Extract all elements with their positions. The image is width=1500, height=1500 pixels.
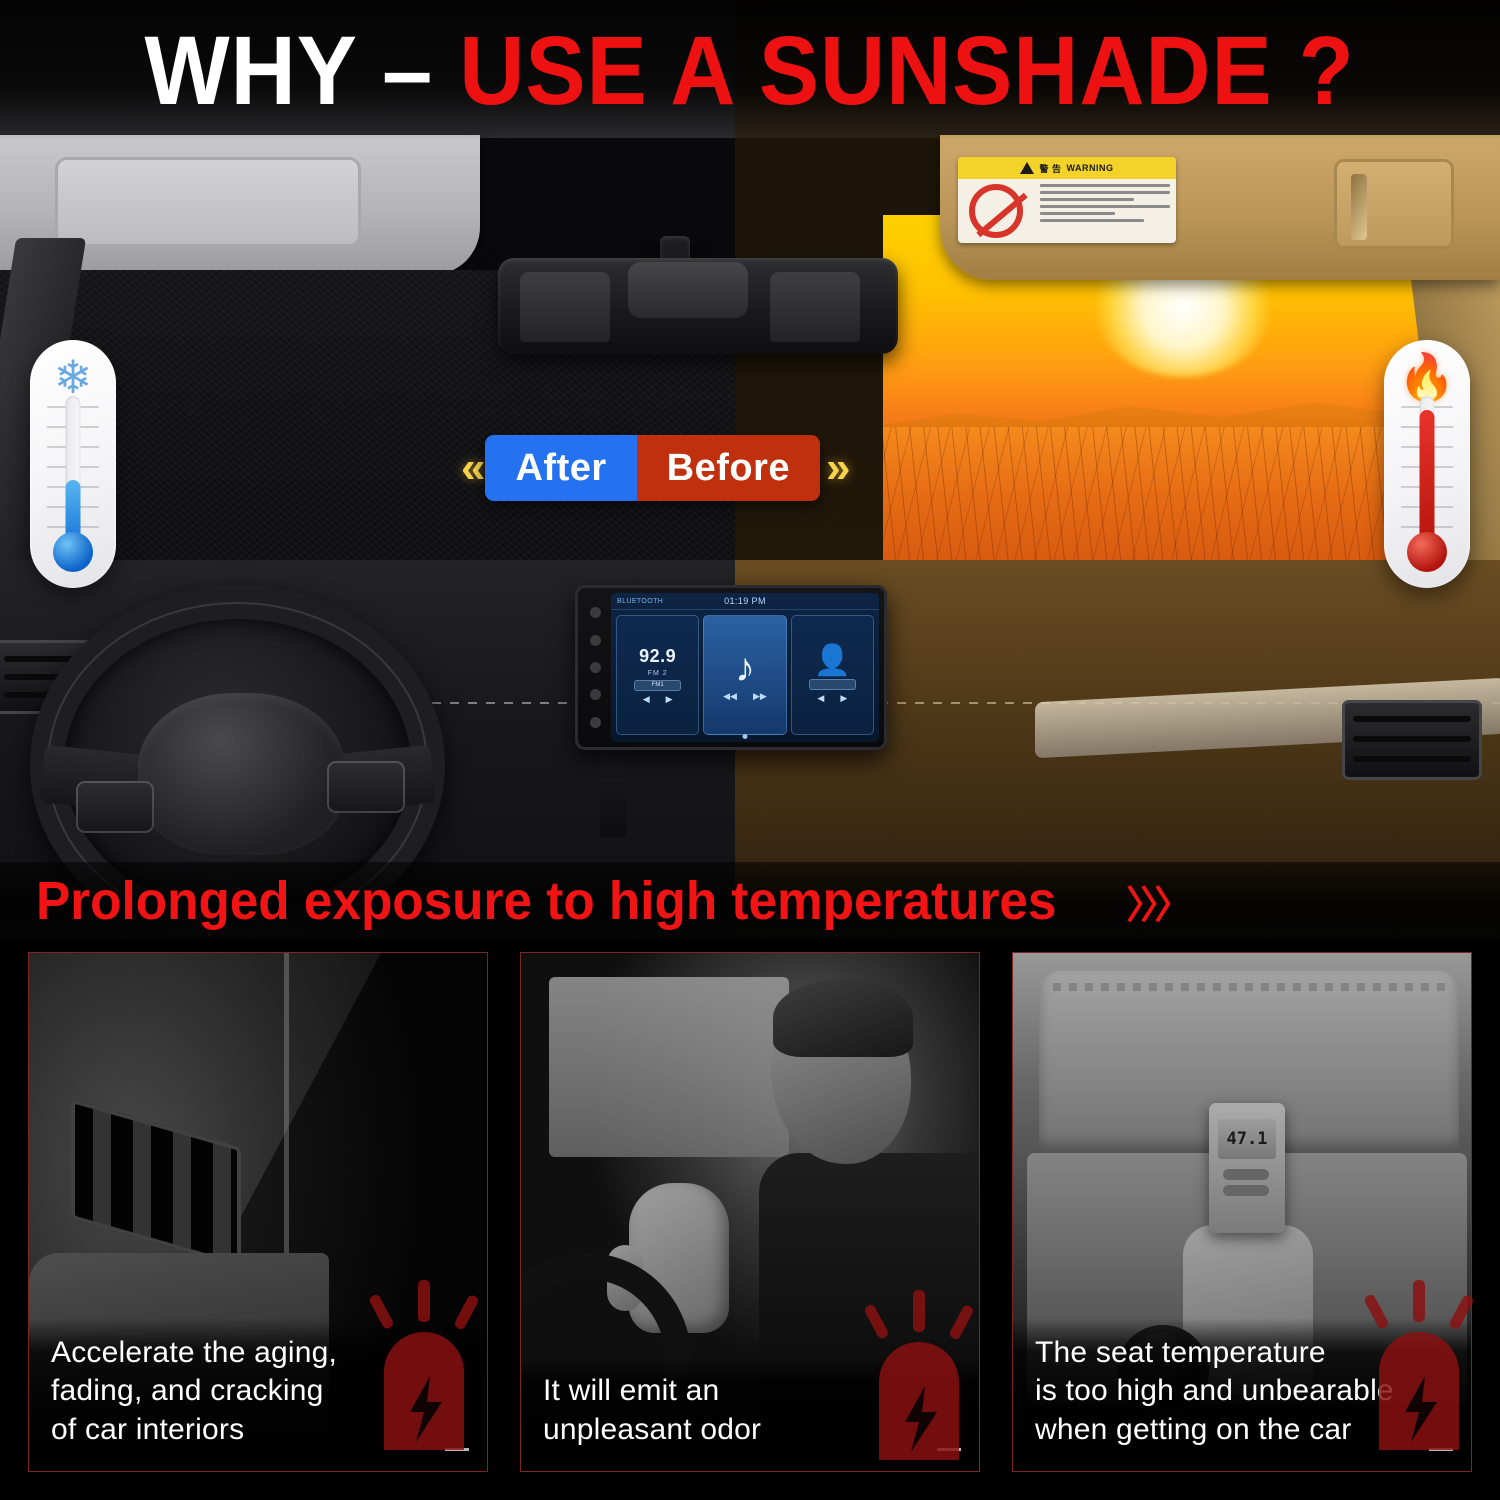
power-button-icon[interactable] [590, 689, 601, 700]
chevron-left-icon: « [455, 446, 485, 490]
card-caption: Accelerate the aging, fading, and cracki… [29, 1318, 487, 1471]
media-rewind-icon[interactable]: ◀◀ [723, 691, 737, 702]
cold-thermometer-bulb [53, 532, 93, 572]
hot-thermometer: 🔥 [1384, 340, 1470, 588]
head-unit-tiles: 92.9 FM 2 FM1 ◀ ▶ ♪ ◀◀ ▶▶ [611, 610, 879, 735]
before-after-toggle[interactable]: « After Before » [455, 435, 851, 501]
music-note-icon: ♪ [735, 648, 755, 688]
chevron-right-icon: » [820, 446, 850, 490]
warning-label-header: 警 告 WARNING [958, 157, 1176, 179]
infrared-thermometer: 47.1 [1209, 1103, 1285, 1233]
caption-line: fading, and cracking [51, 1372, 469, 1410]
radio-controls[interactable]: ◀ ▶ [643, 694, 673, 705]
caption-line: The seat temperature [1035, 1334, 1453, 1372]
caption-line: of car interiors [51, 1411, 469, 1449]
caption-underscore [937, 1448, 961, 1451]
section-subtitle: Prolonged exposure to high temperatures … [0, 862, 1500, 940]
caption-line: unpleasant odor [543, 1411, 961, 1449]
flame-icon: 🔥 [1398, 354, 1455, 400]
car-window [549, 977, 789, 1157]
caption-line: Accelerate the aging, [51, 1334, 469, 1372]
man-hair [773, 979, 913, 1057]
radio-next-icon[interactable]: ▶ [666, 694, 673, 705]
warning-label-text-lines [1034, 179, 1176, 243]
steering-buttons-right [327, 761, 405, 813]
media-tile[interactable]: ♪ ◀◀ ▶▶ [703, 615, 786, 735]
home-button-icon[interactable] [590, 607, 601, 618]
subtitle-text: Prolonged exposure to high temperatures [36, 874, 1056, 928]
profile-pill[interactable] [809, 679, 856, 690]
clock-display: 01:19 PM [724, 596, 766, 606]
air-vent-right [1342, 700, 1482, 780]
warning-label-body [958, 179, 1176, 243]
thermometer-reading: 47.1 [1218, 1119, 1276, 1159]
hot-thermometer-fill [1420, 410, 1435, 552]
visor-mirror-lip [72, 168, 94, 230]
rear-seat-left [520, 272, 610, 342]
prohibition-circle [969, 184, 1023, 238]
warning-label-subtitle: 警 告 [1039, 162, 1061, 175]
card-odor: It will emit an unpleasant odor [520, 952, 980, 1472]
rearview-mirror [498, 258, 898, 354]
headline-red: USE A SUNSHADE ? [460, 16, 1355, 125]
caption-line: It will emit an [543, 1372, 961, 1410]
visor-pocket [1334, 159, 1454, 249]
profile-next-icon[interactable]: ▶ [840, 693, 847, 704]
consequence-card-list: Accelerate the aging, fading, and cracki… [0, 940, 1500, 1500]
bluetooth-status: BLUETOOTH [617, 598, 663, 605]
before-after-badge[interactable]: After Before [485, 435, 820, 501]
steering-buttons-left [76, 781, 154, 833]
infotainment-head-unit: BLUETOOTH 01:19 PM 92.9 FM 2 FM1 ◀ ▶ [575, 585, 887, 750]
headline-dash: – [383, 16, 434, 125]
card-seat-temp: 47.1 The seat temperature is too high an… [1012, 952, 1472, 1472]
radio-prev-icon[interactable]: ◀ [643, 694, 650, 705]
headline-text: WHY – USE A SUNSHADE ? [145, 22, 1355, 119]
no-child-seat-icon [958, 179, 1034, 243]
caption-line: when getting on the car [1035, 1411, 1453, 1449]
page-indicator-dot [743, 734, 748, 739]
page-title: WHY – USE A SUNSHADE ? [0, 0, 1500, 140]
head-unit-side-buttons[interactable] [585, 599, 605, 736]
headline-white: WHY [145, 16, 357, 125]
cold-thermometer: ❄ [30, 340, 116, 588]
before-label[interactable]: Before [637, 435, 820, 501]
hot-thermometer-bulb [1407, 532, 1447, 572]
warning-label-title: WARNING [1067, 163, 1114, 173]
tablet-mount-arm [600, 742, 626, 838]
product-infographic-poster: 警 告 WARNING [0, 0, 1500, 1500]
person-icon: 👤 [814, 646, 851, 676]
menu-button-icon[interactable] [590, 635, 601, 646]
warning-triangle-icon [1020, 162, 1034, 174]
radio-frequency: 92.9 [639, 646, 676, 667]
media-forward-icon[interactable]: ▶▶ [753, 691, 767, 702]
volume-button-icon[interactable] [590, 662, 601, 673]
caption-line: is too high and unbearable [1035, 1372, 1453, 1410]
caption-underscore [1429, 1448, 1453, 1451]
radio-preset-pill[interactable]: FM1 [634, 680, 681, 691]
airbag-hub [138, 693, 346, 855]
card-aging: Accelerate the aging, fading, and cracki… [28, 952, 488, 1472]
sun-visor-tan: 警 告 WARNING [940, 135, 1500, 280]
airbag-warning-label: 警 告 WARNING [958, 157, 1176, 243]
caption-underscore [445, 1448, 469, 1451]
media-controls[interactable]: ◀◀ ▶▶ [723, 691, 767, 702]
eject-button-icon[interactable] [590, 717, 601, 728]
profile-controls[interactable]: ◀ ▶ [817, 693, 847, 704]
rear-headrest [628, 262, 748, 318]
rear-seat-right [770, 272, 860, 342]
thermometer-buttons[interactable] [1223, 1169, 1269, 1196]
defroster-vent [71, 1099, 241, 1268]
card-caption: It will emit an unpleasant odor [521, 1356, 979, 1471]
profile-tile[interactable]: 👤 ◀ ▶ [791, 615, 874, 735]
snowflake-icon: ❄ [54, 354, 93, 400]
chevron-triple-icon: 〉〉〉 [1126, 874, 1187, 929]
card-caption: The seat temperature is too high and unb… [1013, 1318, 1471, 1471]
before-after-hero: 警 告 WARNING [0, 0, 1500, 935]
head-unit-screen[interactable]: BLUETOOTH 01:19 PM 92.9 FM 2 FM1 ◀ ▶ [611, 593, 879, 742]
after-label[interactable]: After [485, 435, 636, 501]
radio-tile[interactable]: 92.9 FM 2 FM1 ◀ ▶ [616, 615, 699, 735]
profile-prev-icon[interactable]: ◀ [817, 693, 824, 704]
radio-band: FM 2 [648, 670, 668, 677]
head-unit-statusbar: BLUETOOTH 01:19 PM [611, 593, 879, 610]
